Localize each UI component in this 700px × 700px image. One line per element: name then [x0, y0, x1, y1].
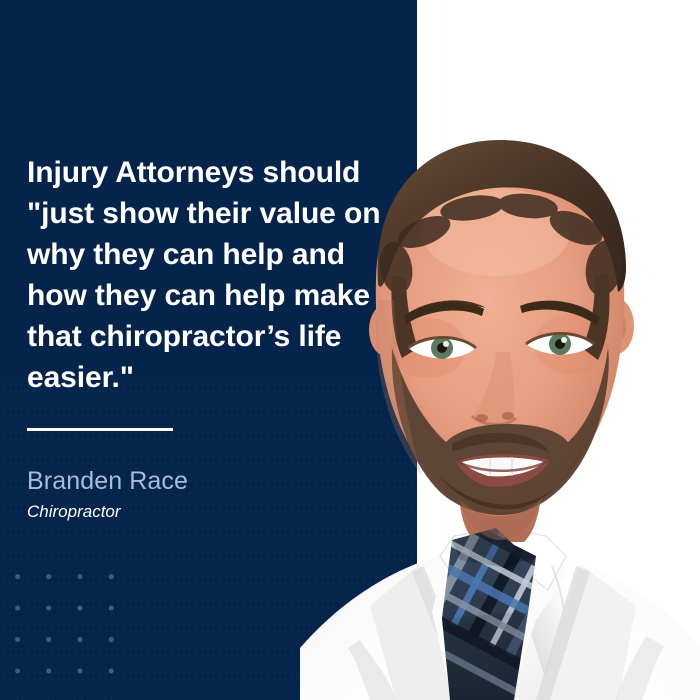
attribution-block: Branden Race Chiropractor	[27, 466, 397, 522]
divider-rule	[27, 428, 173, 431]
testimonial-quote-card: Injury Attorneys should "just show their…	[0, 0, 700, 700]
quote-block: Injury Attorneys should "just show their…	[27, 152, 397, 398]
author-role: Chiropractor	[27, 501, 397, 522]
decorative-dot-grid	[2, 561, 138, 700]
quote-text: Injury Attorneys should "just show their…	[27, 152, 397, 398]
author-name: Branden Race	[27, 466, 397, 497]
